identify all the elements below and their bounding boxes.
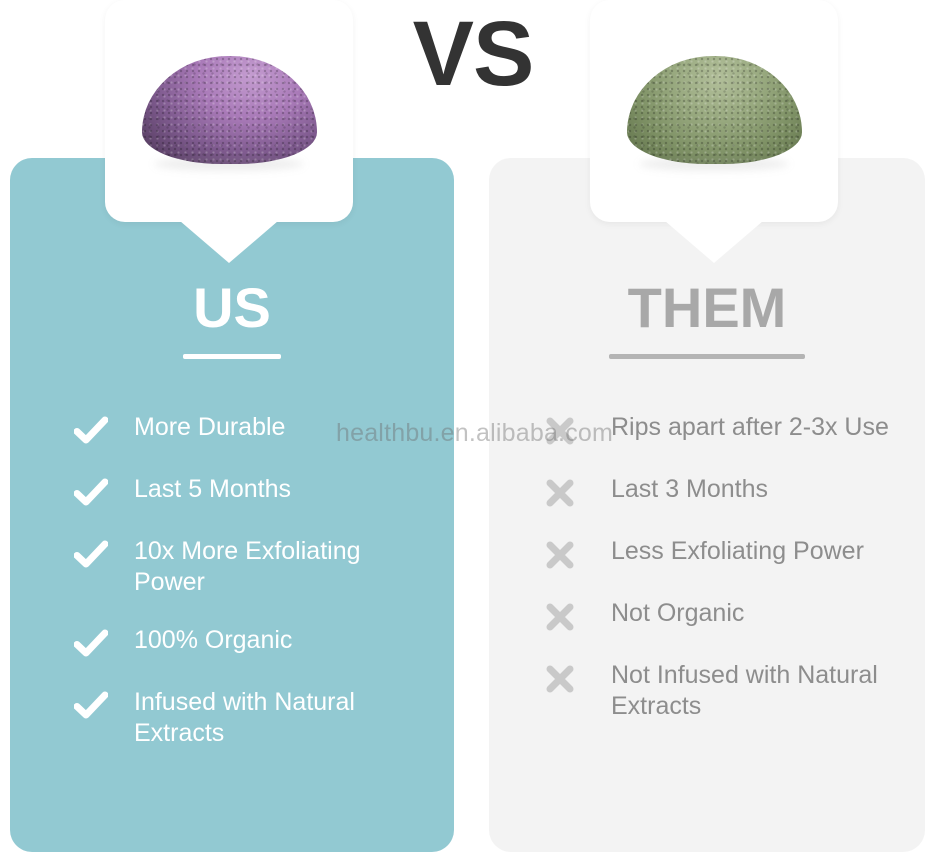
us-feature-label: More Durable	[134, 412, 285, 443]
them-heading-block: THEM	[489, 280, 925, 359]
bubble-tail	[180, 221, 278, 263]
them-heading: THEM	[489, 280, 925, 336]
x-icon	[545, 540, 579, 570]
list-item: Less Exfoliating Power	[489, 536, 925, 570]
check-icon	[74, 629, 108, 659]
us-heading-underline	[183, 354, 281, 359]
them-feature-label: Rips apart after 2-3x Use	[611, 412, 889, 443]
them-product-bubble	[590, 0, 838, 222]
us-heading-block: US	[10, 280, 454, 359]
check-icon	[74, 478, 108, 508]
check-icon	[74, 540, 108, 570]
check-icon	[74, 691, 108, 721]
list-item: Not Organic	[489, 598, 925, 632]
them-feature-label: Last 3 Months	[611, 474, 768, 505]
list-item: 100% Organic	[10, 625, 454, 659]
x-icon	[545, 602, 579, 632]
them-feature-label: Not Infused with Natural Extracts	[611, 660, 897, 721]
us-feature-label: 10x More Exfoliating Power	[134, 536, 420, 597]
them-feature-list: Rips apart after 2-3x Use Last 3 Months …	[489, 412, 925, 749]
x-icon	[545, 478, 579, 508]
green-konjac-sponge-icon	[590, 34, 838, 164]
watermark: healthbu.en.alibaba.com	[336, 419, 613, 448]
list-item: Infused with Natural Extracts	[10, 687, 454, 748]
them-feature-label: Less Exfoliating Power	[611, 536, 864, 567]
us-feature-list: More Durable Last 5 Months 10x More Exfo…	[10, 412, 454, 776]
them-heading-underline	[609, 354, 805, 359]
us-feature-label: 100% Organic	[134, 625, 292, 656]
us-heading: US	[10, 280, 454, 336]
check-icon	[74, 416, 108, 446]
bubble-tail	[665, 221, 763, 263]
list-item: 10x More Exfoliating Power	[10, 536, 454, 597]
us-feature-label: Infused with Natural Extracts	[134, 687, 420, 748]
us-feature-label: Last 5 Months	[134, 474, 291, 505]
x-icon	[545, 664, 579, 694]
them-feature-label: Not Organic	[611, 598, 744, 629]
us-product-bubble	[105, 0, 353, 222]
list-item: Last 3 Months	[489, 474, 925, 508]
list-item: Last 5 Months	[10, 474, 454, 508]
list-item: Not Infused with Natural Extracts	[489, 660, 925, 721]
purple-konjac-sponge-icon	[105, 34, 353, 164]
comparison-infographic: US More Durable Last 5 Months 10x Mo	[0, 0, 938, 862]
versus-label: VS	[388, 8, 558, 100]
